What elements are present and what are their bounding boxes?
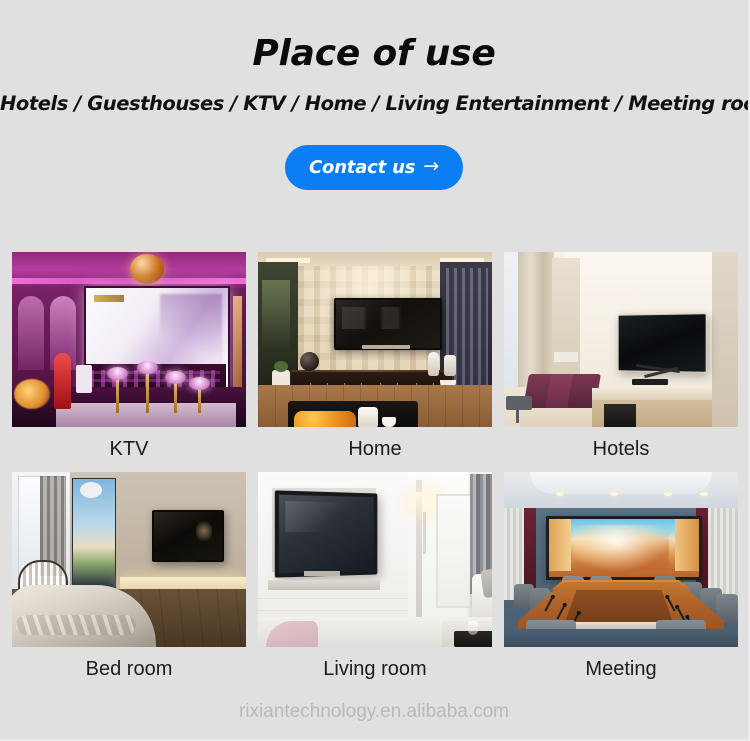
disco-ball xyxy=(130,254,164,284)
living-room-photo[interactable] xyxy=(258,472,492,647)
screen-logo xyxy=(94,295,124,302)
tv-soundbar xyxy=(362,345,410,349)
red-column-decor xyxy=(54,353,71,409)
screen-content-right xyxy=(675,519,699,571)
side-table-leg xyxy=(516,408,519,423)
left-alcove-glow xyxy=(262,280,290,350)
screen-reflection xyxy=(285,501,366,532)
gallery-item[interactable]: Meeting xyxy=(504,472,738,692)
teapot xyxy=(358,407,378,427)
living-room-scene xyxy=(258,472,492,647)
candelabra xyxy=(146,367,149,413)
vase xyxy=(444,355,456,376)
recessed-tv xyxy=(275,490,378,577)
screen-reflection xyxy=(196,518,212,544)
art-cloud xyxy=(80,482,102,498)
cta-container: Contact us → xyxy=(0,145,748,190)
gallery-item[interactable]: Living room xyxy=(258,472,492,692)
meeting-scene xyxy=(504,472,738,647)
wall-mounted-tv xyxy=(152,510,224,562)
gallery-item[interactable]: Hotels xyxy=(504,252,738,472)
side-table xyxy=(506,396,532,410)
bedroom-photo[interactable] xyxy=(12,472,246,647)
window xyxy=(504,252,518,387)
wall-shelf xyxy=(268,580,380,590)
gallery-caption: Meeting xyxy=(504,647,738,692)
candelabra xyxy=(174,377,177,413)
curtain xyxy=(518,252,554,387)
page-title: Place of use xyxy=(0,0,748,74)
downlight xyxy=(556,492,564,496)
gallery-caption: Home xyxy=(258,427,492,472)
curtain-right xyxy=(708,508,738,600)
meeting-photo[interactable] xyxy=(504,472,738,647)
tv-mount-base xyxy=(632,379,668,385)
panel-door xyxy=(436,494,472,608)
candelabra xyxy=(198,383,201,413)
vase xyxy=(428,352,439,376)
contact-us-button[interactable]: Contact us → xyxy=(285,145,463,190)
candelabra xyxy=(116,373,119,413)
page-subtitle: Hotels / Guesthouses / KTV / Home / Livi… xyxy=(0,74,748,115)
home-photo[interactable] xyxy=(258,252,492,427)
gallery-caption: Bed room xyxy=(12,647,246,692)
desk-top xyxy=(592,388,712,400)
floor xyxy=(504,629,738,647)
glassware xyxy=(468,621,478,635)
wall-mounted-tv xyxy=(334,298,442,350)
flower-arrangement xyxy=(14,379,50,409)
ktv-scene xyxy=(12,252,246,427)
downlight xyxy=(664,492,672,496)
white-speaker xyxy=(76,365,92,393)
page-root: Place of use Hotels / Guesthouses / KTV … xyxy=(0,0,750,741)
mini-fridge xyxy=(604,404,636,427)
gallery-item[interactable]: Bed room xyxy=(12,472,246,692)
screen-content-center xyxy=(573,525,669,571)
led-video-wall xyxy=(546,516,702,580)
hotel-scene xyxy=(504,252,738,427)
gallery-item[interactable]: Home xyxy=(258,252,492,472)
home-scene xyxy=(258,252,492,427)
tv-stand xyxy=(304,571,340,576)
panel-highlight xyxy=(554,352,578,362)
teacup xyxy=(382,417,396,427)
fruit-bowl xyxy=(294,411,356,427)
contact-us-label: Contact us xyxy=(309,157,415,178)
arrow-right-icon: → xyxy=(423,157,439,176)
gallery-caption: Hotels xyxy=(504,427,738,472)
column-left xyxy=(524,508,536,594)
gold-pillar xyxy=(233,296,242,396)
wall-mounted-tv xyxy=(618,313,707,373)
screen-reflection xyxy=(342,307,432,329)
hotels-photo[interactable] xyxy=(504,252,738,427)
gallery-item[interactable]: KTV xyxy=(12,252,246,472)
ktv-photo[interactable] xyxy=(12,252,246,427)
tv-mount xyxy=(180,557,196,562)
right-wall xyxy=(712,252,738,427)
ceiling-led-strip xyxy=(12,278,246,284)
duvet-folds xyxy=(16,615,136,635)
place-of-use-gallery: KTV xyxy=(12,252,738,692)
downlight xyxy=(700,492,708,496)
downlight xyxy=(610,492,618,496)
ceiling-cove xyxy=(530,472,712,494)
decor-globe xyxy=(300,352,319,371)
arch-left xyxy=(18,296,44,370)
gallery-caption: Living room xyxy=(258,647,492,692)
sconce-stem xyxy=(423,512,426,554)
watermark: rixiantechnology.en.alibaba.com xyxy=(0,701,748,723)
bedroom-scene xyxy=(12,472,246,647)
screen-content-left xyxy=(549,519,571,571)
gallery-caption: KTV xyxy=(12,427,246,472)
